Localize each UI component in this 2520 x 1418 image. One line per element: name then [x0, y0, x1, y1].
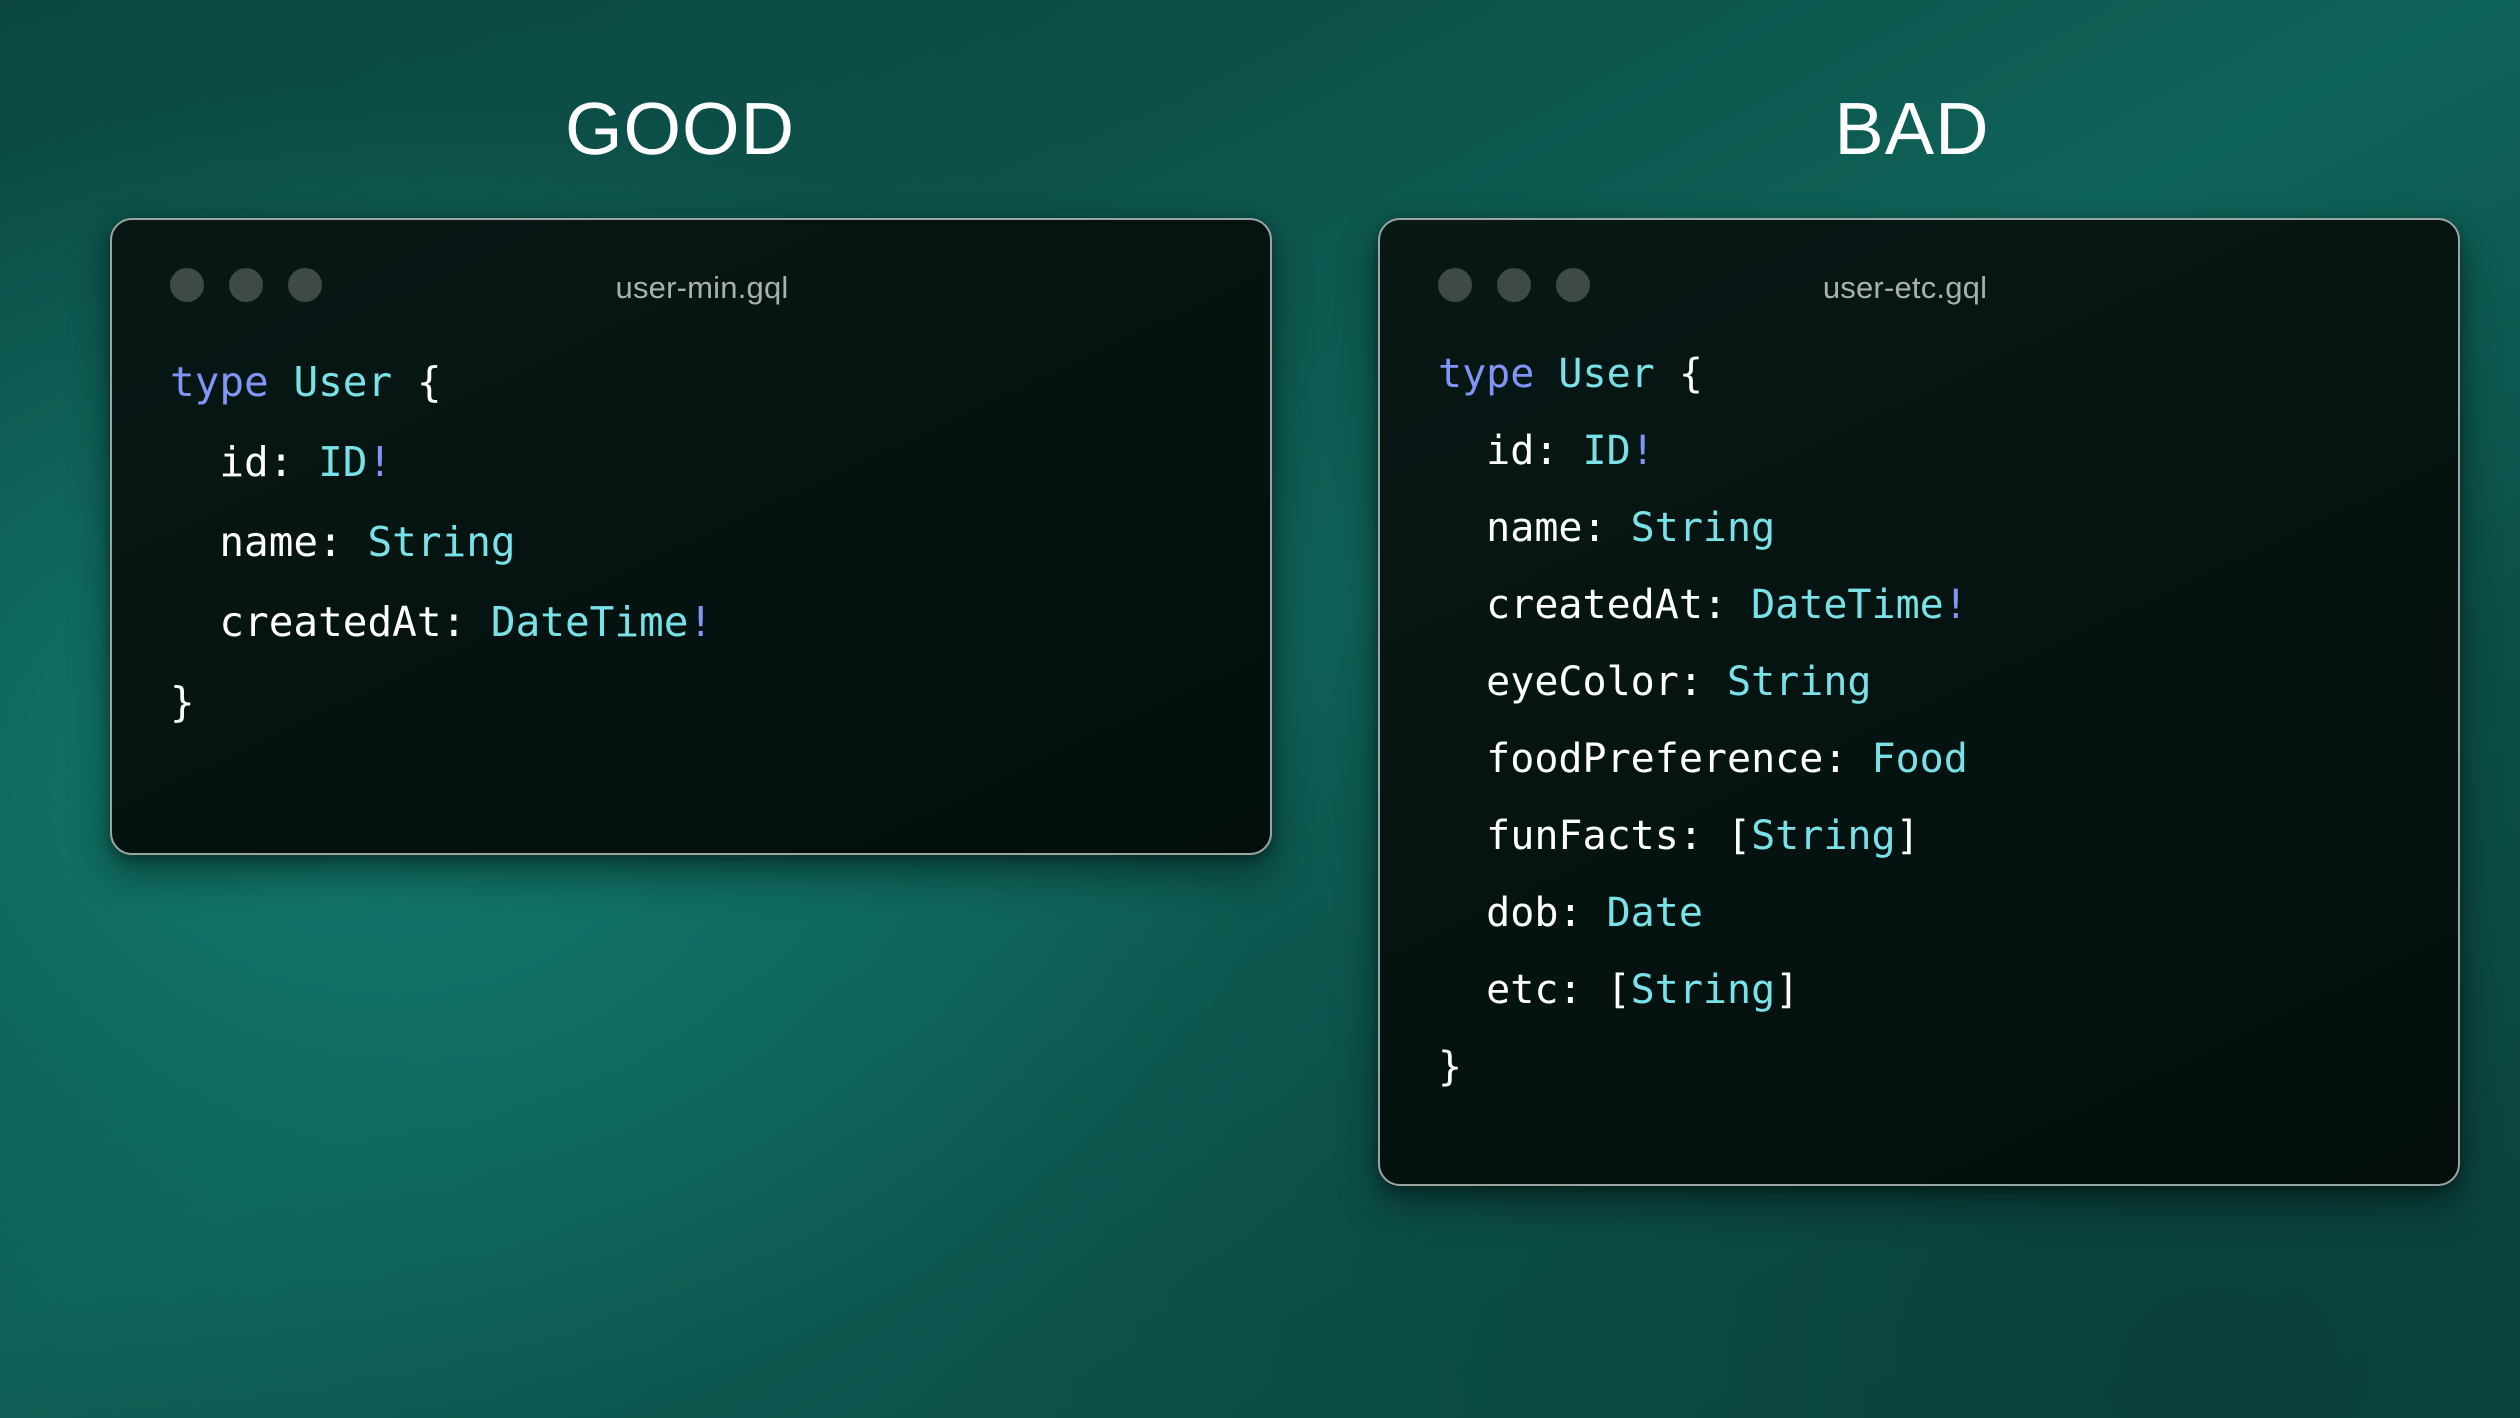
code-token	[1534, 351, 1558, 397]
code-token: createdAt:	[170, 598, 491, 646]
code-card-good: user-min.gql type User { id: ID! name: S…	[110, 218, 1272, 855]
code-token: !	[1944, 582, 1968, 628]
bad-heading: BAD	[1834, 92, 1989, 166]
code-token: ]	[1775, 967, 1799, 1013]
code-line: id: ID!	[1438, 413, 2458, 490]
code-line: createdAt: DateTime!	[170, 582, 1270, 662]
code-line: etc: [String]	[1438, 952, 2458, 1029]
code-token: !	[1631, 428, 1655, 474]
code-card-bad: user-etc.gql type User { id: ID! name: S…	[1378, 218, 2460, 1186]
code-token: {	[392, 358, 441, 406]
code-line: name: String	[170, 502, 1270, 582]
code-token: DateTime	[1751, 582, 1944, 628]
window-maximize-dot[interactable]	[1556, 268, 1590, 302]
code-token: foodPreference:	[1438, 736, 1871, 782]
code-line: name: String	[1438, 490, 2458, 567]
code-token: funFacts: [	[1438, 813, 1751, 859]
code-line: id: ID!	[170, 422, 1270, 502]
code-token: eyeColor:	[1438, 659, 1727, 705]
code-token: }	[1438, 1044, 1462, 1090]
code-line: type User {	[170, 342, 1270, 422]
code-line: }	[1438, 1029, 2458, 1106]
code-token: ID	[1583, 428, 1631, 474]
code-line: funFacts: [String]	[1438, 798, 2458, 875]
code-token: name:	[170, 518, 367, 566]
code-line: foodPreference: Food	[1438, 721, 2458, 798]
code-line: createdAt: DateTime!	[1438, 567, 2458, 644]
window-maximize-dot[interactable]	[288, 268, 322, 302]
code-token: !	[367, 438, 392, 486]
code-line: }	[170, 662, 1270, 742]
window-close-dot[interactable]	[1438, 268, 1472, 302]
window-minimize-dot[interactable]	[229, 268, 263, 302]
code-token: User	[293, 358, 392, 406]
window-titlebar-good: user-min.gql	[112, 220, 1270, 332]
window-close-dot[interactable]	[170, 268, 204, 302]
comparison-slide: GOOD BAD user-min.gql type User { id: ID…	[0, 0, 2520, 1418]
code-token: id:	[170, 438, 318, 486]
code-token	[269, 358, 294, 406]
code-token: id:	[1438, 428, 1583, 474]
filename-label-bad: user-etc.gql	[1823, 270, 1987, 306]
window-titlebar-bad: user-etc.gql	[1380, 220, 2458, 332]
code-token: Date	[1607, 890, 1703, 936]
code-line: eyeColor: String	[1438, 644, 2458, 721]
code-token: !	[688, 598, 713, 646]
window-controls-bad	[1438, 268, 1590, 302]
code-token: {	[1655, 351, 1703, 397]
code-token: User	[1558, 351, 1654, 397]
code-token: String	[1727, 659, 1872, 705]
window-minimize-dot[interactable]	[1497, 268, 1531, 302]
code-token: String	[367, 518, 515, 566]
code-line: type User {	[1438, 336, 2458, 413]
code-line: dob: Date	[1438, 875, 2458, 952]
window-controls-good	[170, 268, 322, 302]
code-block-good: type User { id: ID! name: String created…	[112, 332, 1270, 742]
code-token: }	[170, 678, 195, 726]
code-token: String	[1631, 505, 1776, 551]
code-block-bad: type User { id: ID! name: String created…	[1380, 332, 2458, 1106]
code-token: etc: [	[1438, 967, 1631, 1013]
code-token: type	[170, 358, 269, 406]
code-token: ]	[1896, 813, 1920, 859]
code-token: dob:	[1438, 890, 1607, 936]
code-token: String	[1751, 813, 1896, 859]
code-token: name:	[1438, 505, 1631, 551]
code-token: DateTime	[491, 598, 688, 646]
code-token: createdAt:	[1438, 582, 1751, 628]
code-token: Food	[1871, 736, 1967, 782]
filename-label-good: user-min.gql	[616, 270, 789, 306]
good-heading: GOOD	[565, 92, 795, 166]
code-token: String	[1631, 967, 1776, 1013]
code-token: ID	[318, 438, 367, 486]
code-token: type	[1438, 351, 1534, 397]
